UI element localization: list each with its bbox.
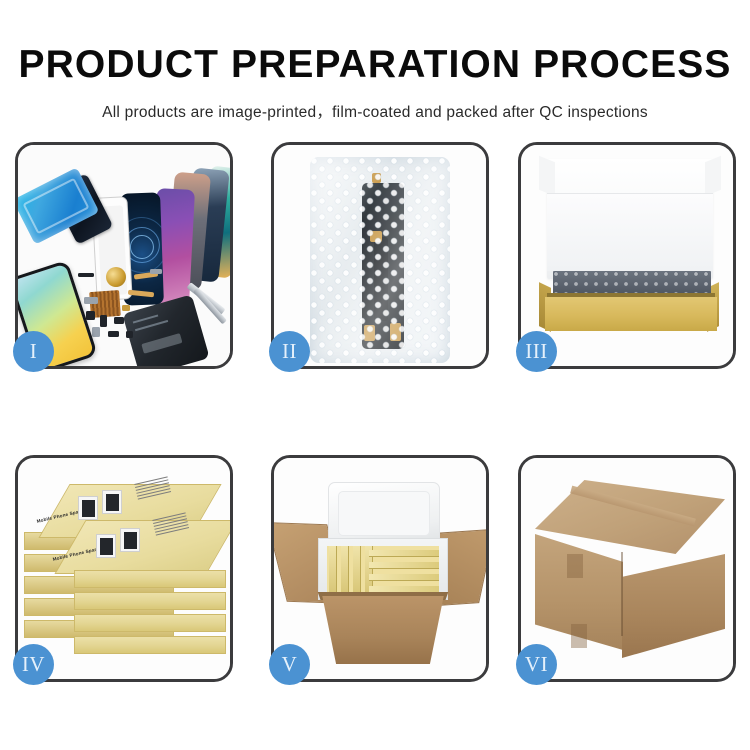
step-image-6 <box>521 458 733 679</box>
carton-right-face <box>622 554 725 658</box>
step-panel-5[interactable]: V <box>271 455 489 682</box>
page-subtitle: All products are image-printed，film-coat… <box>0 84 750 122</box>
small-part <box>150 269 162 274</box>
box-lid-face <box>547 193 713 271</box>
carton-tab <box>567 554 583 578</box>
product-preparation-infographic: PRODUCT PREPARATION PROCESS All products… <box>0 0 750 750</box>
foam-lid <box>328 482 440 546</box>
step-badge-3: III <box>516 331 557 372</box>
step-panel-1[interactable]: I <box>15 142 233 369</box>
inner-box-scene <box>521 145 733 366</box>
step-badge-1: I <box>13 331 54 372</box>
carton-tab <box>571 624 587 648</box>
box-front-kraft <box>545 297 717 331</box>
page-title: PRODUCT PREPARATION PROCESS <box>0 0 750 84</box>
step-badge-4: IV <box>13 644 54 685</box>
step-image-4: Mobile Phone Spare Parts Mobile Phone Sp… <box>18 458 230 679</box>
bubble-wrap-bag <box>310 157 450 363</box>
small-part <box>78 273 94 277</box>
header: PRODUCT PREPARATION PROCESS All products… <box>0 0 750 122</box>
sealed-carton-scene <box>521 458 733 679</box>
step-panel-2[interactable]: II <box>271 142 489 369</box>
small-part <box>92 327 100 337</box>
small-part <box>84 297 98 304</box>
step-badge-6: VI <box>516 644 557 685</box>
foam-carton-scene <box>274 458 486 679</box>
steps-grid: I <box>15 142 735 682</box>
small-part <box>126 331 133 338</box>
small-part <box>108 331 119 337</box>
step-image-3 <box>521 145 733 366</box>
step-panel-6[interactable]: VI <box>518 455 736 682</box>
stacked-boxes-scene: Mobile Phone Spare Parts Mobile Phone Sp… <box>18 458 230 679</box>
step-panel-4[interactable]: Mobile Phone Spare Parts Mobile Phone Sp… <box>15 455 233 682</box>
step-badge-2: II <box>269 331 310 372</box>
small-part <box>86 311 95 320</box>
box-artwork <box>78 496 98 520</box>
foam-insert <box>318 538 448 600</box>
small-part <box>114 317 124 324</box>
carton-corner-seam <box>621 552 623 636</box>
step-image-2 <box>274 145 486 366</box>
product-assortment-scene <box>18 145 230 366</box>
carton-body <box>314 596 452 664</box>
box-artwork <box>120 528 140 552</box>
step-panel-3[interactable]: III <box>518 142 736 369</box>
boxes-inside <box>327 546 439 592</box>
step-badge-5: V <box>269 644 310 685</box>
step-image-5 <box>274 458 486 679</box>
box-artwork <box>102 490 122 514</box>
step-image-1 <box>18 145 230 366</box>
small-part <box>122 305 130 311</box>
bubble-bag-scene <box>274 145 486 366</box>
box-lid-lower <box>54 520 230 574</box>
speaker-part <box>106 267 126 287</box>
box-artwork <box>96 534 116 558</box>
carton-top-face <box>535 480 725 554</box>
small-part <box>100 315 107 327</box>
